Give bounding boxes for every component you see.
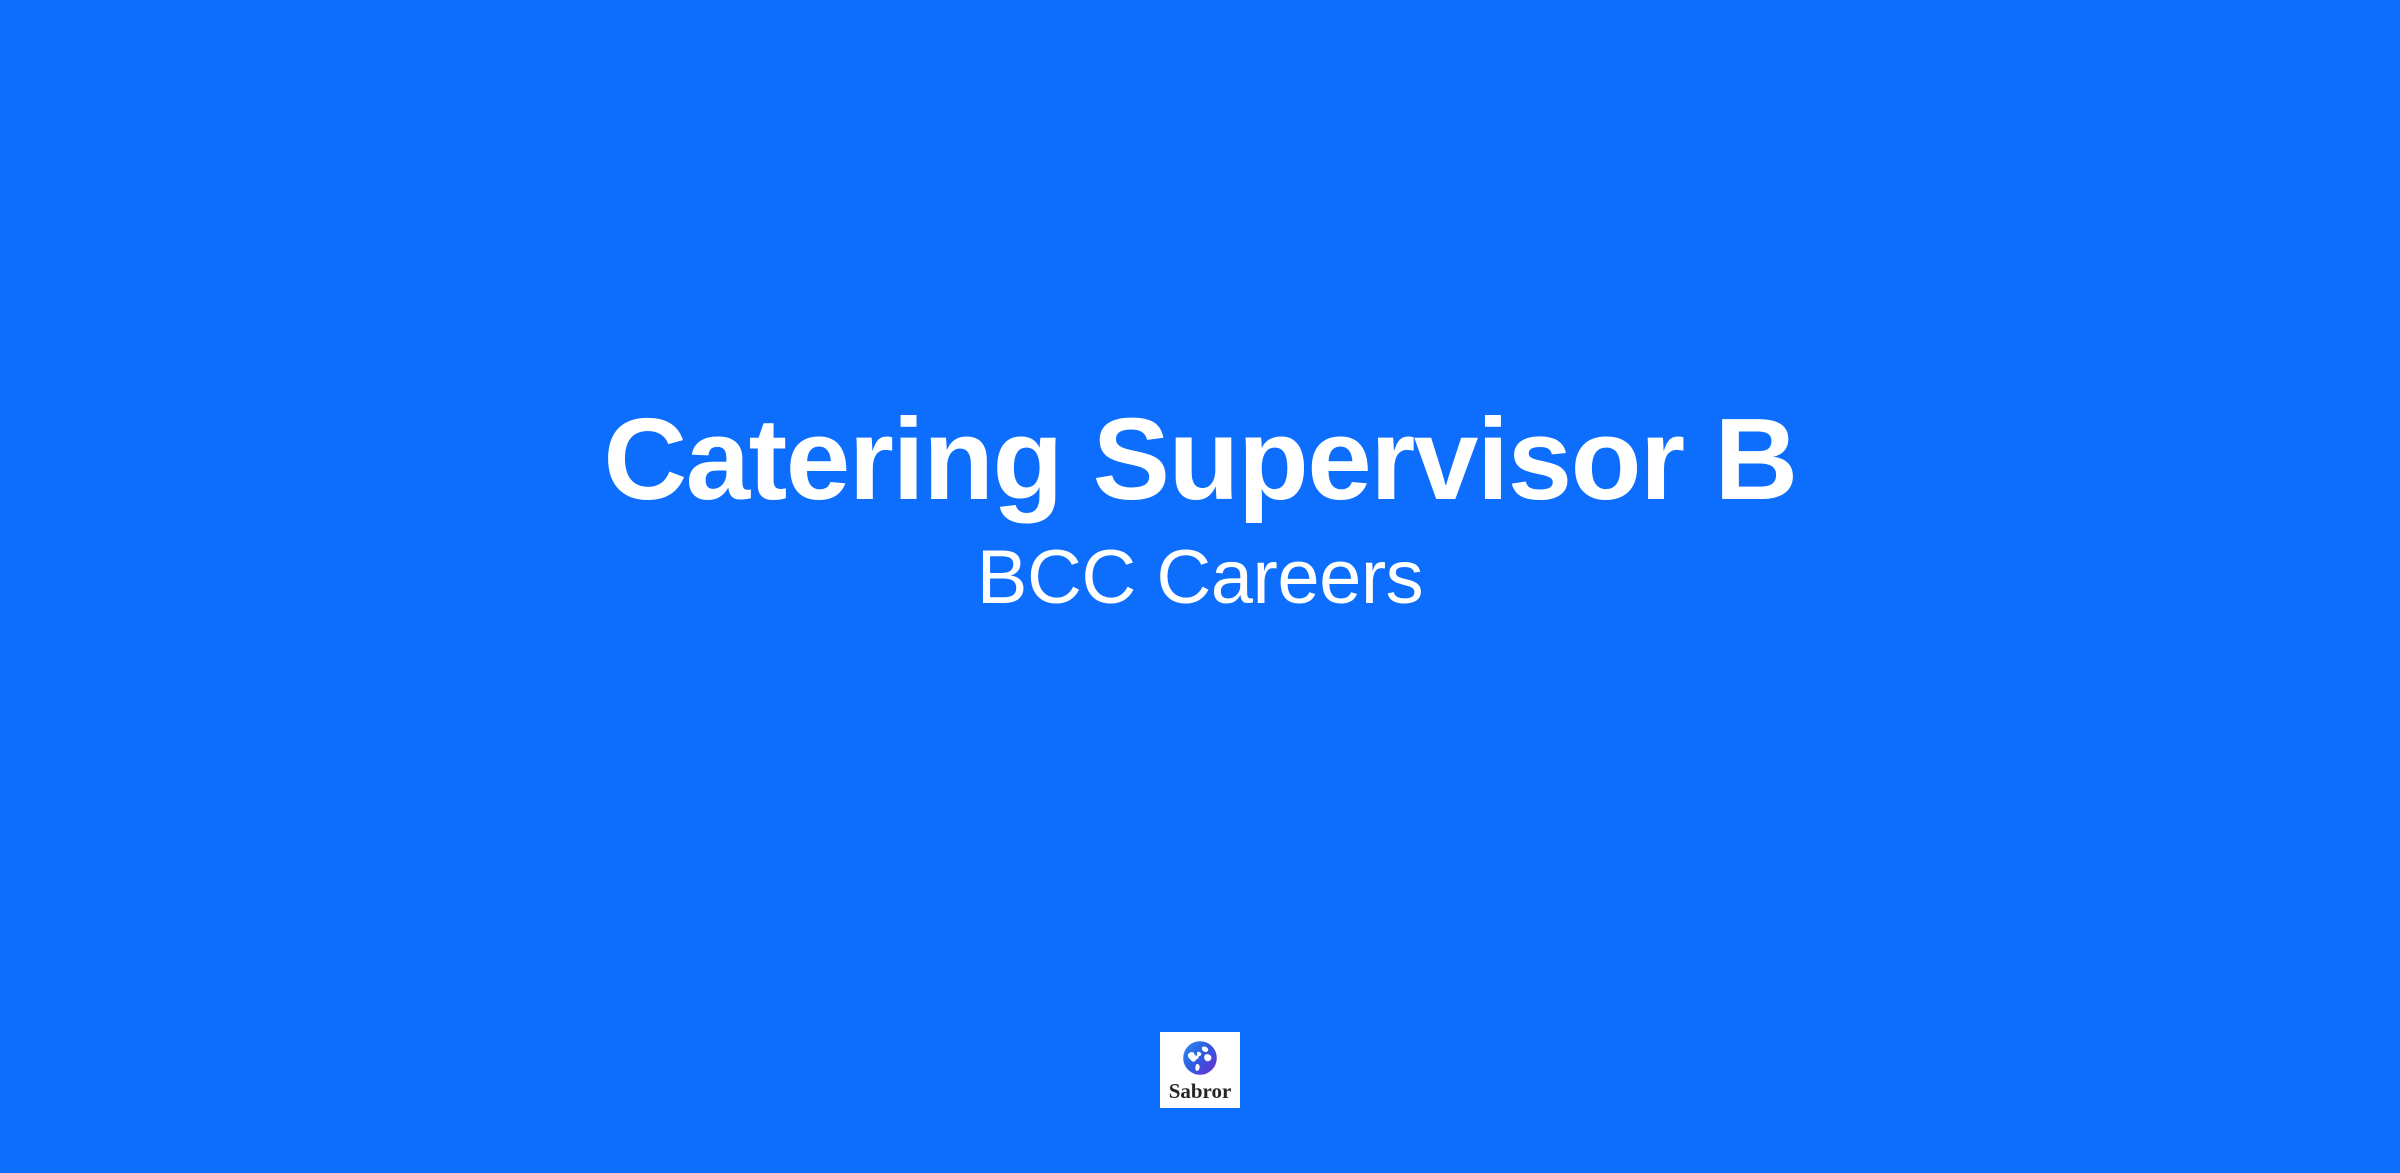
job-posting-title-slide: Catering Supervisor B BCC Careers Sabror	[0, 0, 2400, 1173]
page-subtitle: BCC Careers	[0, 534, 2400, 622]
page-title: Catering Supervisor B	[0, 398, 2400, 520]
globe-icon	[1180, 1038, 1220, 1078]
headline-block: Catering Supervisor B BCC Careers	[0, 0, 2400, 622]
brand-logo-card: Sabror	[1160, 1032, 1240, 1108]
brand-wordmark: Sabror	[1169, 1079, 1232, 1103]
